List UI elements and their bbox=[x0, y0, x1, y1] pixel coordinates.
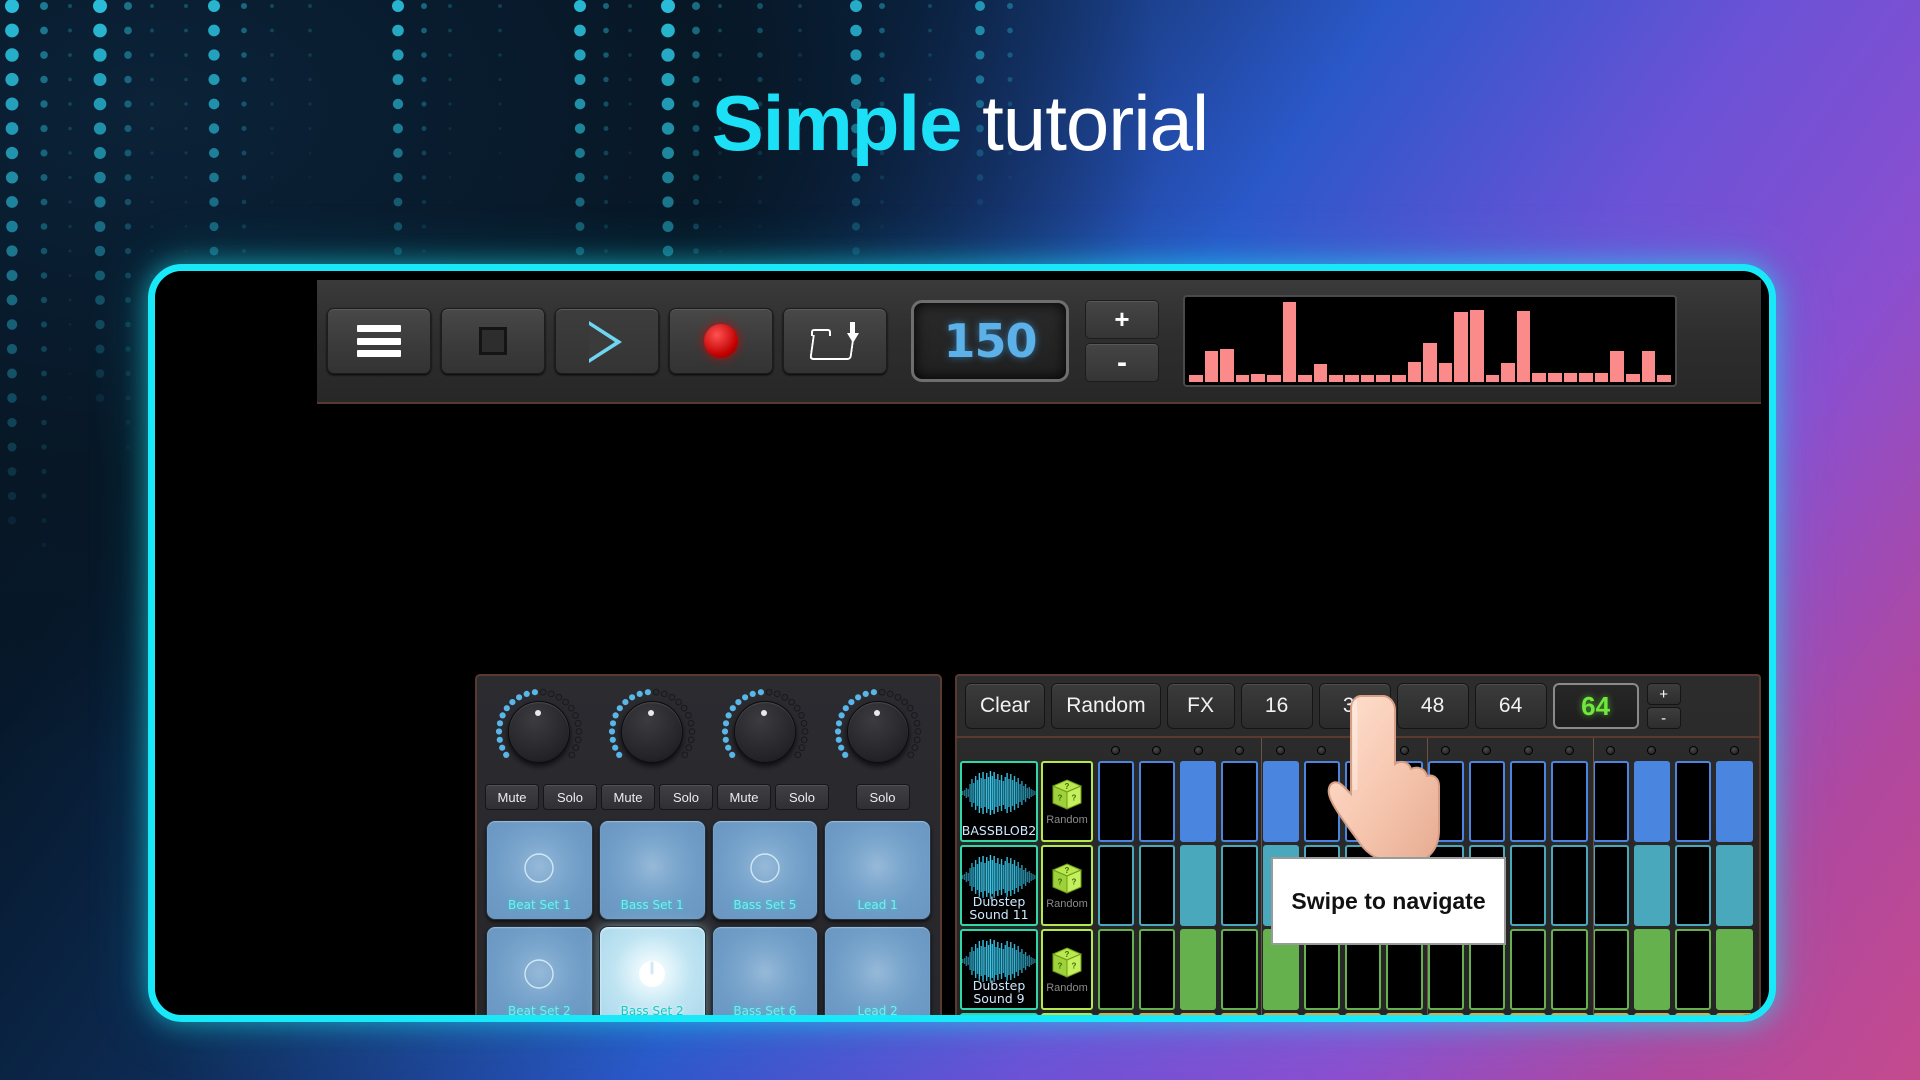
step-cell[interactable] bbox=[1180, 1013, 1216, 1022]
step-cell[interactable] bbox=[1551, 929, 1587, 1010]
step-cell-wrap bbox=[1466, 1013, 1507, 1022]
visualizer-bar bbox=[1345, 375, 1359, 382]
track-random-button[interactable]: ???Random bbox=[1041, 845, 1093, 926]
power-glyph-icon bbox=[635, 957, 669, 991]
knob-indicator bbox=[874, 710, 880, 716]
mixer-and-pads-panel: MuteSoloMuteSoloMuteSoloSolo Beat Set 1B… bbox=[475, 674, 942, 1022]
sound-pad-label: Bass Set 1 bbox=[621, 898, 684, 912]
step-cell-wrap bbox=[1631, 1013, 1672, 1022]
step-cell[interactable] bbox=[1386, 1013, 1422, 1022]
step-cell[interactable] bbox=[1716, 845, 1752, 926]
visualizer-bar bbox=[1579, 373, 1593, 382]
step-led bbox=[1647, 746, 1656, 755]
step-cell[interactable] bbox=[1551, 1013, 1587, 1022]
step-led bbox=[1111, 746, 1120, 755]
step-cell[interactable] bbox=[1221, 761, 1257, 842]
track-name-label: Dubstep Sound 9 bbox=[962, 979, 1036, 1008]
svg-text:?: ? bbox=[1065, 782, 1070, 791]
step-cell[interactable] bbox=[1593, 845, 1629, 926]
step-led bbox=[1194, 746, 1203, 755]
svg-text:?: ? bbox=[1058, 961, 1063, 970]
sound-pad-grid: Beat Set 1Bass Set 1Bass Set 5Lead 1Beat… bbox=[477, 810, 940, 1022]
step-cell-wrap bbox=[1178, 1013, 1219, 1022]
step-cell[interactable] bbox=[1510, 761, 1546, 842]
visualizer-bar bbox=[1298, 375, 1312, 382]
waveform-thumbnail bbox=[962, 939, 1036, 983]
visualizer-bar bbox=[1595, 373, 1609, 382]
step-cell[interactable] bbox=[1675, 845, 1711, 926]
step-cell-wrap bbox=[1631, 761, 1672, 842]
dice-icon: ??? bbox=[1050, 862, 1084, 896]
visualizer-bar bbox=[1501, 363, 1515, 382]
step-cell-wrap bbox=[1590, 929, 1631, 1010]
step-cell[interactable] bbox=[1634, 1013, 1670, 1022]
visualizer-bar bbox=[1189, 375, 1203, 382]
step-cell-wrap bbox=[1219, 761, 1260, 842]
current-length-display[interactable]: 64 bbox=[1553, 683, 1639, 729]
step-cell[interactable] bbox=[1716, 929, 1752, 1010]
page-root: Simple tutorial bbox=[0, 0, 1920, 1080]
step-cell[interactable] bbox=[1221, 845, 1257, 926]
visualizer-bar bbox=[1220, 349, 1234, 382]
waveform-thumbnail bbox=[962, 855, 1036, 899]
sound-pad-label: Bass Set 6 bbox=[733, 1004, 796, 1018]
track-sound-button[interactable]: Dubstep Sound 7 bbox=[960, 1013, 1038, 1022]
step-cell-wrap bbox=[1260, 1013, 1301, 1022]
step-led bbox=[1441, 746, 1450, 755]
mute-solo-cell-2: MuteSolo bbox=[601, 784, 713, 810]
step-cell[interactable] bbox=[1263, 1013, 1299, 1022]
track-random-label: Random bbox=[1046, 814, 1088, 826]
mute-solo-cell-4: Solo bbox=[833, 784, 932, 810]
step-cell[interactable] bbox=[1221, 929, 1257, 1010]
step-led bbox=[1276, 746, 1285, 755]
step-cell[interactable] bbox=[1634, 929, 1670, 1010]
step-cell-wrap bbox=[1095, 845, 1136, 926]
step-led-cell bbox=[1219, 746, 1260, 755]
visualizer-bar bbox=[1439, 363, 1453, 382]
step-cell-wrap bbox=[1631, 845, 1672, 926]
step-cell-wrap bbox=[1508, 929, 1549, 1010]
fx-button[interactable]: FX bbox=[1167, 683, 1235, 729]
step-cell[interactable] bbox=[1263, 761, 1299, 842]
visualizer-bar bbox=[1657, 375, 1671, 382]
spectrum-visualizer bbox=[1183, 295, 1677, 387]
step-cell-wrap bbox=[1549, 929, 1590, 1010]
length-increase-button[interactable]: + bbox=[1647, 683, 1681, 705]
step-cell[interactable] bbox=[1469, 1013, 1505, 1022]
mute-solo-cell-1: MuteSolo bbox=[485, 784, 597, 810]
step-cell[interactable] bbox=[1675, 761, 1711, 842]
knob-indicator bbox=[761, 710, 767, 716]
knob-cell-1 bbox=[485, 688, 594, 776]
app-screen: 150 + - MuteSoloMuteSoloMuteSoloSolo Bea… bbox=[155, 271, 1769, 1015]
step-led-cell bbox=[1631, 746, 1672, 755]
visualizer-bar bbox=[1626, 374, 1640, 382]
sound-pad[interactable]: Lead 1 bbox=[824, 820, 931, 920]
step-cell[interactable] bbox=[1551, 761, 1587, 842]
svg-text:?: ? bbox=[1058, 793, 1063, 802]
dice-icon: ??? bbox=[1050, 946, 1084, 980]
volume-knob-3[interactable] bbox=[721, 688, 809, 776]
visualizer-bar bbox=[1314, 364, 1328, 382]
volume-knob-2[interactable] bbox=[608, 688, 696, 776]
step-cell[interactable] bbox=[1139, 929, 1175, 1010]
step-cell-wrap bbox=[1178, 845, 1219, 926]
visualizer-bar bbox=[1470, 310, 1484, 382]
step-led bbox=[1606, 746, 1615, 755]
svg-text:?: ? bbox=[1072, 793, 1077, 802]
page-title: Simple tutorial bbox=[0, 78, 1920, 169]
step-led-cell bbox=[1590, 746, 1631, 755]
step-cell-wrap bbox=[1590, 845, 1631, 926]
step-cell[interactable] bbox=[1098, 929, 1134, 1010]
track-row: Dubstep Sound 7???Random bbox=[960, 1013, 1093, 1022]
track-random-label: Random bbox=[1046, 982, 1088, 994]
step-cell-wrap bbox=[1508, 1013, 1549, 1022]
step-cell[interactable] bbox=[1634, 761, 1670, 842]
step-led-cell bbox=[1673, 746, 1714, 755]
step-cell-wrap bbox=[1466, 761, 1507, 842]
step-cell[interactable] bbox=[1098, 761, 1134, 842]
mute-button-2[interactable]: Mute bbox=[601, 784, 655, 810]
step-cell[interactable] bbox=[1593, 761, 1629, 842]
step-cell-wrap bbox=[1384, 1013, 1425, 1022]
circle-glyph-icon bbox=[522, 957, 556, 991]
knob-row bbox=[477, 676, 940, 776]
step-led-cell bbox=[1343, 746, 1384, 755]
track-random-label: Random bbox=[1046, 898, 1088, 910]
visualizer-bar bbox=[1251, 374, 1265, 382]
step-led-cell bbox=[1095, 746, 1136, 755]
solo-button-3[interactable]: Solo bbox=[775, 784, 829, 810]
stop-square-icon bbox=[479, 327, 507, 355]
visualizer-bar bbox=[1548, 373, 1562, 382]
step-led-row bbox=[1095, 740, 1755, 761]
visualizer-bar bbox=[1486, 375, 1500, 382]
step-led-cell bbox=[1384, 746, 1425, 755]
step-cell[interactable] bbox=[1510, 1013, 1546, 1022]
step-cell-wrap bbox=[1136, 929, 1177, 1010]
track-name-label: BASSBLOB2 bbox=[962, 824, 1036, 840]
mute-button-1[interactable]: Mute bbox=[485, 784, 539, 810]
step-cell[interactable] bbox=[1098, 845, 1134, 926]
length-48-button[interactable]: 48 bbox=[1397, 683, 1469, 729]
circle-glyph-icon bbox=[748, 851, 782, 885]
step-cell-wrap bbox=[1673, 845, 1714, 926]
step-cell[interactable] bbox=[1345, 1013, 1381, 1022]
random-button[interactable]: Random bbox=[1051, 683, 1160, 729]
svg-text:?: ? bbox=[1072, 961, 1077, 970]
step-cell-wrap bbox=[1508, 845, 1549, 926]
step-cell-wrap bbox=[1136, 761, 1177, 842]
step-cell-wrap bbox=[1425, 1013, 1466, 1022]
step-cell[interactable] bbox=[1428, 1013, 1464, 1022]
track-sound-button[interactable]: BASSBLOB2 bbox=[960, 761, 1038, 842]
step-cell[interactable] bbox=[1593, 1013, 1629, 1022]
step-cell-wrap bbox=[1301, 761, 1342, 842]
sound-pad-label: Beat Set 2 bbox=[508, 1004, 571, 1018]
track-random-button[interactable]: ???Random bbox=[1041, 929, 1093, 1010]
step-cell[interactable] bbox=[1716, 1013, 1752, 1022]
step-cell-wrap bbox=[1549, 761, 1590, 842]
step-led bbox=[1152, 746, 1161, 755]
step-cell-wrap bbox=[1384, 761, 1425, 842]
step-cell-wrap bbox=[1343, 761, 1384, 842]
record-button[interactable] bbox=[669, 308, 773, 374]
step-cell[interactable] bbox=[1510, 845, 1546, 926]
step-cell-wrap bbox=[1219, 845, 1260, 926]
visualizer-bar bbox=[1376, 375, 1390, 382]
track-sound-button[interactable]: Dubstep Sound 9 bbox=[960, 929, 1038, 1010]
visualizer-bar bbox=[1408, 362, 1422, 383]
step-led-cell bbox=[1549, 746, 1590, 755]
sound-pad[interactable]: Bass Set 6 bbox=[712, 926, 819, 1022]
step-cell-wrap bbox=[1590, 1013, 1631, 1022]
bpm-increase-button[interactable]: + bbox=[1085, 300, 1159, 339]
step-led-cell bbox=[1260, 746, 1301, 755]
hamburger-icon bbox=[357, 325, 401, 357]
step-cell-wrap bbox=[1095, 1013, 1136, 1022]
step-cell-wrap bbox=[1714, 1013, 1755, 1022]
visualizer-bar bbox=[1454, 312, 1468, 382]
track-label-column: BASSBLOB2???RandomDubstep Sound 11???Ran… bbox=[957, 738, 1095, 1022]
visualizer-bar bbox=[1267, 375, 1281, 382]
step-cell-wrap bbox=[1301, 1013, 1342, 1022]
track-random-button[interactable]: ???Random bbox=[1041, 761, 1093, 842]
visualizer-bar bbox=[1532, 373, 1546, 382]
sound-pad[interactable]: Beat Set 1 bbox=[486, 820, 593, 920]
track-sound-button[interactable]: Dubstep Sound 11 bbox=[960, 845, 1038, 926]
length-decrease-button[interactable]: - bbox=[1647, 707, 1681, 729]
tutorial-tooltip: Swipe to navigate bbox=[1271, 857, 1506, 945]
sound-pad[interactable]: Beat Set 2 bbox=[486, 926, 593, 1022]
visualizer-bar bbox=[1236, 375, 1250, 382]
step-cell-wrap bbox=[1508, 761, 1549, 842]
visualizer-bar bbox=[1392, 375, 1406, 382]
step-cell[interactable] bbox=[1304, 1013, 1340, 1022]
step-cell-wrap bbox=[1343, 1013, 1384, 1022]
step-led bbox=[1482, 746, 1491, 755]
menu-button[interactable] bbox=[327, 308, 431, 374]
sequencer-toolbar: Clear Random FX 16 32 48 64 64 + - bbox=[957, 676, 1759, 738]
step-cell-wrap bbox=[1095, 761, 1136, 842]
step-led-cell bbox=[1178, 746, 1219, 755]
step-cell[interactable] bbox=[1180, 929, 1216, 1010]
step-led-cell bbox=[1301, 746, 1342, 755]
step-cell-wrap bbox=[1673, 761, 1714, 842]
step-cell[interactable] bbox=[1098, 1013, 1134, 1022]
visualizer-bar bbox=[1610, 351, 1624, 382]
step-cell[interactable] bbox=[1551, 845, 1587, 926]
step-cell[interactable] bbox=[1221, 1013, 1257, 1022]
svg-text:?: ? bbox=[1058, 877, 1063, 886]
volume-knob-1[interactable] bbox=[495, 688, 583, 776]
visualizer-bar bbox=[1361, 375, 1375, 382]
step-cell-wrap bbox=[1136, 845, 1177, 926]
bpm-decrease-button[interactable]: - bbox=[1085, 343, 1159, 382]
visualizer-bar bbox=[1564, 373, 1578, 382]
length-64-button[interactable]: 64 bbox=[1475, 683, 1547, 729]
step-cell-wrap bbox=[1590, 761, 1631, 842]
step-led-cell bbox=[1425, 746, 1466, 755]
headline-light: tutorial bbox=[982, 79, 1208, 167]
length-32-button[interactable]: 32 bbox=[1319, 683, 1391, 729]
step-cell[interactable] bbox=[1716, 761, 1752, 842]
step-cell-wrap bbox=[1178, 761, 1219, 842]
step-cell[interactable] bbox=[1675, 1013, 1711, 1022]
mute-button-3[interactable]: Mute bbox=[717, 784, 771, 810]
step-cell-wrap bbox=[1178, 929, 1219, 1010]
track-name-label: Dubstep Sound 11 bbox=[962, 895, 1036, 924]
stop-button[interactable] bbox=[441, 308, 545, 374]
solo-button-2[interactable]: Solo bbox=[659, 784, 713, 810]
bar-divider bbox=[1261, 738, 1262, 1022]
step-led bbox=[1689, 746, 1698, 755]
visualizer-bar bbox=[1642, 351, 1656, 382]
sound-pad-label: Bass Set 5 bbox=[733, 898, 796, 912]
visualizer-bar bbox=[1517, 311, 1531, 382]
step-cell-wrap bbox=[1673, 929, 1714, 1010]
sound-pad[interactable]: Bass Set 1 bbox=[599, 820, 706, 920]
step-cell[interactable] bbox=[1139, 761, 1175, 842]
device-frame: 150 + - MuteSoloMuteSoloMuteSoloSolo Bea… bbox=[148, 264, 1776, 1022]
knob-cell-2 bbox=[598, 688, 707, 776]
step-led bbox=[1400, 746, 1409, 755]
visualizer-bar bbox=[1329, 375, 1343, 382]
step-cell[interactable] bbox=[1180, 845, 1216, 926]
step-cell-wrap bbox=[1714, 845, 1755, 926]
knob-cell-3 bbox=[711, 688, 820, 776]
step-led bbox=[1730, 746, 1739, 755]
knob-cell-4 bbox=[823, 688, 932, 776]
step-cell-wrap bbox=[1549, 1013, 1590, 1022]
step-led-cell bbox=[1714, 746, 1755, 755]
folder-download-icon bbox=[811, 322, 859, 360]
step-cell-wrap bbox=[1549, 845, 1590, 926]
visualizer-bar bbox=[1205, 351, 1219, 382]
step-led-cell bbox=[1136, 746, 1177, 755]
step-cell[interactable] bbox=[1634, 845, 1670, 926]
sound-pad[interactable]: Bass Set 2 bbox=[599, 926, 706, 1022]
step-cell-wrap bbox=[1714, 761, 1755, 842]
step-led-cell bbox=[1466, 746, 1507, 755]
step-cell-wrap bbox=[1673, 1013, 1714, 1022]
step-led bbox=[1317, 746, 1326, 755]
sound-pad-label: Lead 2 bbox=[857, 1004, 897, 1018]
step-row bbox=[1095, 1013, 1755, 1022]
svg-text:?: ? bbox=[1065, 866, 1070, 875]
solo-button-1[interactable]: Solo bbox=[543, 784, 597, 810]
length-16-button[interactable]: 16 bbox=[1241, 683, 1313, 729]
play-triangle-icon bbox=[589, 321, 625, 361]
sound-pad-label: Bass Set 2 bbox=[621, 1004, 684, 1018]
step-cell-wrap bbox=[1260, 761, 1301, 842]
step-led bbox=[1359, 746, 1368, 755]
step-cell[interactable] bbox=[1386, 761, 1422, 842]
sound-pad[interactable]: Lead 2 bbox=[824, 926, 931, 1022]
step-row bbox=[1095, 761, 1755, 842]
waveform-thumbnail bbox=[962, 771, 1036, 815]
svg-text:?: ? bbox=[1072, 877, 1077, 886]
step-cell[interactable] bbox=[1593, 929, 1629, 1010]
track-random-button[interactable]: ???Random bbox=[1041, 1013, 1093, 1022]
step-cell[interactable] bbox=[1180, 761, 1216, 842]
step-cell-wrap bbox=[1714, 929, 1755, 1010]
transport-toolbar: 150 + - bbox=[317, 280, 1761, 404]
track-row: Dubstep Sound 11???Random bbox=[960, 845, 1093, 926]
step-cell[interactable] bbox=[1139, 1013, 1175, 1022]
svg-text:?: ? bbox=[1065, 950, 1070, 959]
tooltip-text: Swipe to navigate bbox=[1291, 888, 1485, 915]
step-cell[interactable] bbox=[1428, 761, 1464, 842]
headline-strong: Simple bbox=[712, 79, 962, 167]
step-led-cell bbox=[1508, 746, 1549, 755]
step-cell-wrap bbox=[1631, 929, 1672, 1010]
dice-icon: ??? bbox=[1050, 778, 1084, 812]
step-led bbox=[1524, 746, 1533, 755]
step-cell[interactable] bbox=[1304, 761, 1340, 842]
mute-solo-cell-3: MuteSolo bbox=[717, 784, 829, 810]
solo-button-4[interactable]: Solo bbox=[856, 784, 910, 810]
bpm-display[interactable]: 150 bbox=[911, 300, 1069, 382]
step-cell[interactable] bbox=[1345, 761, 1381, 842]
visualizer-bar bbox=[1423, 343, 1437, 382]
circle-glyph-icon bbox=[522, 851, 556, 885]
step-cell-wrap bbox=[1219, 1013, 1260, 1022]
volume-knob-4[interactable] bbox=[834, 688, 922, 776]
clear-button[interactable]: Clear bbox=[965, 683, 1045, 729]
step-led bbox=[1565, 746, 1574, 755]
step-cell[interactable] bbox=[1675, 929, 1711, 1010]
step-cell-wrap bbox=[1095, 929, 1136, 1010]
step-led bbox=[1235, 746, 1244, 755]
visualizer-bar bbox=[1283, 302, 1297, 382]
length-stepper: + - bbox=[1647, 683, 1681, 729]
track-row: Dubstep Sound 9???Random bbox=[960, 929, 1093, 1010]
bpm-stepper: + - bbox=[1085, 300, 1159, 382]
step-cell-wrap bbox=[1136, 1013, 1177, 1022]
bar-divider bbox=[1593, 738, 1594, 1022]
load-save-button[interactable] bbox=[783, 308, 887, 374]
step-cell[interactable] bbox=[1469, 761, 1505, 842]
mute-solo-row: MuteSoloMuteSoloMuteSoloSolo bbox=[477, 776, 940, 810]
step-cell-wrap bbox=[1425, 761, 1466, 842]
play-button[interactable] bbox=[555, 308, 659, 374]
sound-pad[interactable]: Bass Set 5 bbox=[712, 820, 819, 920]
record-dot-icon bbox=[704, 324, 738, 358]
step-cell[interactable] bbox=[1139, 845, 1175, 926]
sound-pad-label: Lead 1 bbox=[857, 898, 897, 912]
step-cell[interactable] bbox=[1510, 929, 1546, 1010]
step-sequencer-panel: Clear Random FX 16 32 48 64 64 + - BASSB… bbox=[955, 674, 1761, 1022]
bpm-value: 150 bbox=[943, 314, 1036, 368]
sound-pad-label: Beat Set 1 bbox=[508, 898, 571, 912]
track-row: BASSBLOB2???Random bbox=[960, 761, 1093, 842]
step-cell-wrap bbox=[1219, 929, 1260, 1010]
